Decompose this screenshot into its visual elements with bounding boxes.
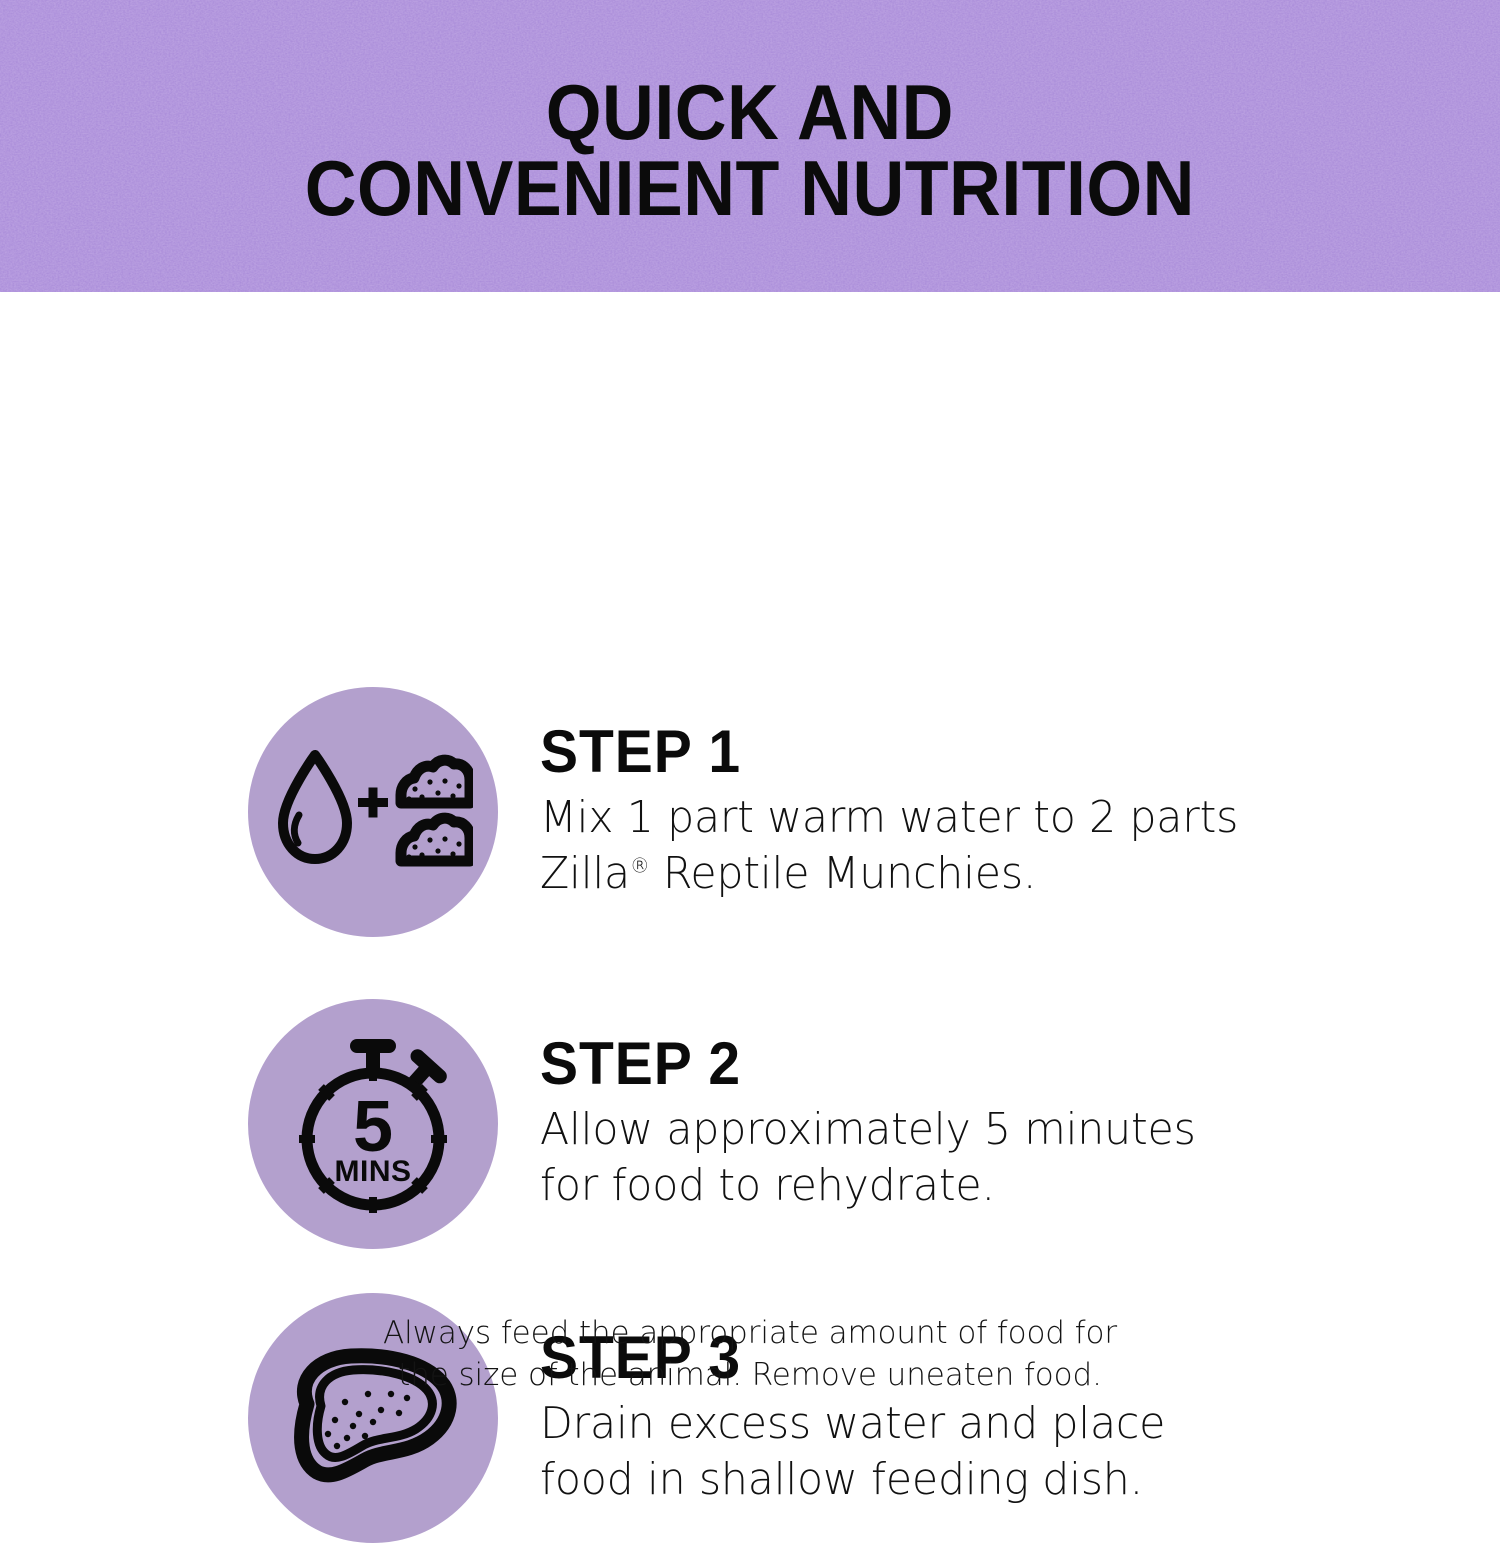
step-3-body-line-2: food in shallow feeding dish. bbox=[540, 1454, 1143, 1505]
footer-line-1: Always feed the appropriate amount of fo… bbox=[0, 1312, 1500, 1354]
step-1-icon-circle bbox=[248, 687, 498, 937]
page-title-line-1: QUICK AND bbox=[305, 74, 1195, 150]
water-drop-plus-food-icon bbox=[273, 737, 473, 887]
stopwatch-unit: MINS bbox=[335, 1155, 412, 1188]
step-1-text: STEP 1 Mix 1 part warm water to 2 parts … bbox=[540, 722, 1500, 903]
step-2-body-line-1: Allow approximately 5 minutes bbox=[540, 1104, 1196, 1155]
step-1-body-line-1: Mix 1 part warm water to 2 parts bbox=[540, 792, 1238, 843]
step-2-text: STEP 2 Allow approximately 5 minutes for… bbox=[540, 1034, 1500, 1215]
step-2-body: Allow approximately 5 minutes for food t… bbox=[540, 1102, 1277, 1215]
page-title: QUICK AND CONVENIENT NUTRITION bbox=[305, 66, 1195, 227]
step-2-heading: STEP 2 bbox=[540, 1034, 1262, 1094]
step-1-body-line-2-post: Reptile Munchies. bbox=[649, 848, 1036, 899]
footer-line-2: the size of the animal. Remove uneaten f… bbox=[0, 1354, 1500, 1396]
step-row: STEP 1 Mix 1 part warm water to 2 parts … bbox=[0, 686, 1500, 938]
step-2-body-line-2: for food to rehydrate. bbox=[540, 1160, 995, 1211]
header-banner: QUICK AND CONVENIENT NUTRITION bbox=[0, 0, 1500, 292]
step-3-body: Drain excess water and place food in sha… bbox=[540, 1396, 1277, 1509]
step-1-heading: STEP 1 bbox=[540, 722, 1262, 782]
step-row: 5 MINS STEP 2 Allow approximately 5 minu… bbox=[0, 998, 1500, 1250]
page-title-line-2: CONVENIENT NUTRITION bbox=[305, 150, 1195, 226]
step-1-body: Mix 1 part warm water to 2 parts Zilla® … bbox=[540, 790, 1277, 903]
registered-mark: ® bbox=[630, 853, 649, 877]
stopwatch-icon: 5 MINS bbox=[278, 1029, 468, 1219]
step-3-body-line-1: Drain excess water and place bbox=[540, 1398, 1165, 1449]
step-2-icon-circle: 5 MINS bbox=[248, 999, 498, 1249]
footer-disclaimer: Always feed the appropriate amount of fo… bbox=[0, 1312, 1500, 1396]
step-1-brand: Zilla bbox=[540, 848, 630, 899]
